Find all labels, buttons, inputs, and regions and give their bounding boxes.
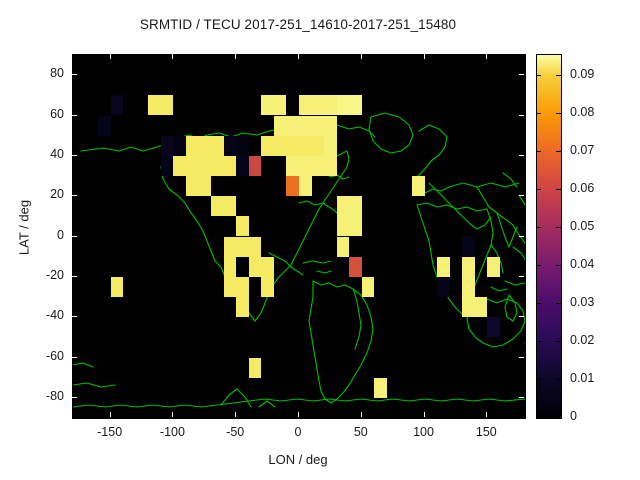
heatmap-cell [324,136,337,156]
y-tick-label: 60 [20,107,64,121]
x-tick-label: 100 [394,425,454,439]
y-tick-label: -40 [20,308,64,322]
colorbar-tick-label: 0.01 [570,371,594,385]
heatmap-cell [324,95,337,115]
heatmap-cell [173,156,186,176]
heatmap-cell [299,95,312,115]
x-tick-mark [298,412,299,417]
colorbar-tick-mark-right [556,303,561,304]
heatmap-cell [349,216,362,236]
heatmap-cell [274,116,287,136]
heatmap-cell [412,176,425,196]
y-tick-mark-right [519,276,524,277]
colorbar-tick-mark [536,265,541,266]
heatmap-cell [161,136,174,156]
heatmap-cell [286,156,299,176]
heatmap-cell [211,196,224,216]
x-tick-label: 150 [456,425,516,439]
colorbar-tick-label: 0 [570,409,577,423]
y-tick-label: 80 [20,66,64,80]
x-tick-mark [361,412,362,417]
heatmap-cell [362,277,375,297]
heatmap-cell [161,95,174,115]
x-tick-mark [110,412,111,417]
colorbar-tick-label: 0.09 [570,67,594,81]
heatmap-cell [437,277,450,297]
x-tick-mark-top [486,54,487,59]
colorbar-tick-mark [536,75,541,76]
heatmap-cell [224,196,237,216]
heatmap-cell [312,116,325,136]
y-tick-mark-right [519,357,524,358]
colorbar-tick-mark [536,341,541,342]
heatmap-cell [236,237,249,257]
x-tick-mark-top [424,54,425,59]
y-tick-mark-right [519,115,524,116]
heatmap-cell [199,136,212,156]
heatmap-cell [312,156,325,176]
colorbar-tick-label: 0.04 [570,257,594,271]
colorbar-tick-label: 0.07 [570,143,594,157]
y-tick-mark [72,115,77,116]
colorbar-tick-mark [536,227,541,228]
colorbar-tick-mark-right [556,75,561,76]
heatmap-cell [161,156,174,176]
heatmap-cell [236,277,249,297]
heatmap-cell [261,95,274,115]
x-tick-label: -50 [205,425,265,439]
colorbar-tick-label: 0.02 [570,333,594,347]
x-tick-label: 0 [268,425,328,439]
y-tick-mark-right [519,236,524,237]
heatmap-cell [337,196,350,216]
x-tick-mark-top [235,54,236,59]
heatmap-cell [236,216,249,236]
y-tick-mark [72,276,77,277]
heatmap-cells [73,55,525,418]
heatmap-cell [475,297,488,317]
y-tick-mark-right [519,316,524,317]
colorbar-tick-mark [536,417,541,418]
heatmap-cell [324,116,337,136]
colorbar [536,54,562,419]
y-tick-label: -60 [20,349,64,363]
y-tick-mark [72,195,77,196]
heatmap-cell [249,358,262,378]
colorbar-tick-mark-right [556,113,561,114]
y-axis-title: LAT / deg [17,158,32,298]
y-tick-mark-right [519,195,524,196]
x-tick-label: 50 [331,425,391,439]
heatmap-cell [324,156,337,176]
y-tick-mark [72,74,77,75]
y-tick-mark-right [519,74,524,75]
heatmap-cell [299,176,312,196]
y-tick-mark [72,357,77,358]
x-tick-mark [235,412,236,417]
heatmap-cell [337,216,350,236]
heatmap-cell [98,116,111,136]
heatmap-cell [374,378,387,398]
heatmap-cell [148,95,161,115]
colorbar-tick-mark-right [556,417,561,418]
heatmap-cell [224,277,237,297]
y-tick-mark-right [519,155,524,156]
heatmap-cell [236,156,249,176]
x-tick-mark [172,412,173,417]
heatmap-cell [299,156,312,176]
chart-title: SRMTID / TECU 2017-251_14610-2017-251_15… [0,17,596,32]
colorbar-tick-label: 0.06 [570,181,594,195]
heatmap-cell [111,95,124,115]
colorbar-tick-mark [536,151,541,152]
heatmap-cell [186,156,199,176]
heatmap-cell [173,136,186,156]
heatmap-cell [337,237,350,257]
colorbar-tick-mark-right [556,151,561,152]
heatmap-cell [462,297,475,317]
heatmap-cell [211,136,224,156]
colorbar-tick-mark [536,189,541,190]
y-tick-mark [72,236,77,237]
x-tick-mark [486,412,487,417]
heatmap-cell [286,136,299,156]
heatmap-cell [462,237,475,257]
heatmap-cell [236,297,249,317]
heatmap-cell [462,257,475,277]
heatmap-cell [349,196,362,216]
heatmap-cell [261,257,274,277]
colorbar-tick-mark-right [556,227,561,228]
heatmap-cell [249,257,262,277]
colorbar-tick-mark-right [556,379,561,380]
colorbar-tick-mark-right [556,265,561,266]
colorbar-tick-mark-right [556,341,561,342]
heatmap-cell [487,257,500,277]
heatmap-cell [286,116,299,136]
heatmap-cell [349,257,362,277]
x-tick-mark-top [361,54,362,59]
x-tick-label: -150 [80,425,140,439]
heatmap-cell [299,116,312,136]
heatmap-cell [224,237,237,257]
heatmap-cell [224,136,237,156]
heatmap-cell [224,257,237,277]
colorbar-tick-label: 0.03 [570,295,594,309]
colorbar-tick-mark [536,379,541,380]
y-tick-mark [72,155,77,156]
heatmap-cell [274,136,287,156]
x-axis-title: LON / deg [72,452,524,467]
heatmap-cell [249,156,262,176]
chart-canvas: SRMTID / TECU 2017-251_14610-2017-251_15… [0,0,640,480]
heatmap-cell [349,95,362,115]
heatmap-cell [286,176,299,196]
y-tick-mark [72,397,77,398]
heatmap-cell [211,156,224,176]
x-tick-mark-top [298,54,299,59]
x-tick-label: -100 [142,425,202,439]
heatmap-cell [261,136,274,156]
heatmap-cell [111,277,124,297]
heatmap-cell [487,317,500,337]
x-tick-mark-top [110,54,111,59]
colorbar-tick-mark [536,303,541,304]
heatmap-cell [274,95,287,115]
heatmap-cell [312,95,325,115]
heatmap-cell [224,156,237,176]
heatmap-cell [337,95,350,115]
x-tick-mark [424,412,425,417]
heatmap-cell [312,136,325,156]
colorbar-tick-label: 0.05 [570,219,594,233]
colorbar-tick-mark-right [556,189,561,190]
heatmap-cell [236,136,249,156]
y-tick-label: -80 [20,389,64,403]
x-tick-mark-top [172,54,173,59]
heatmap-cell [261,277,274,297]
map-plot-area [72,54,526,419]
y-tick-mark-right [519,397,524,398]
heatmap-cell [437,257,450,277]
heatmap-cell [199,156,212,176]
heatmap-cell [249,237,262,257]
heatmap-cell [199,176,212,196]
heatmap-cell [462,277,475,297]
colorbar-tick-mark [536,113,541,114]
heatmap-cell [186,136,199,156]
heatmap-cell [299,136,312,156]
y-tick-mark [72,316,77,317]
heatmap-cell [186,176,199,196]
colorbar-tick-label: 0.08 [570,105,594,119]
